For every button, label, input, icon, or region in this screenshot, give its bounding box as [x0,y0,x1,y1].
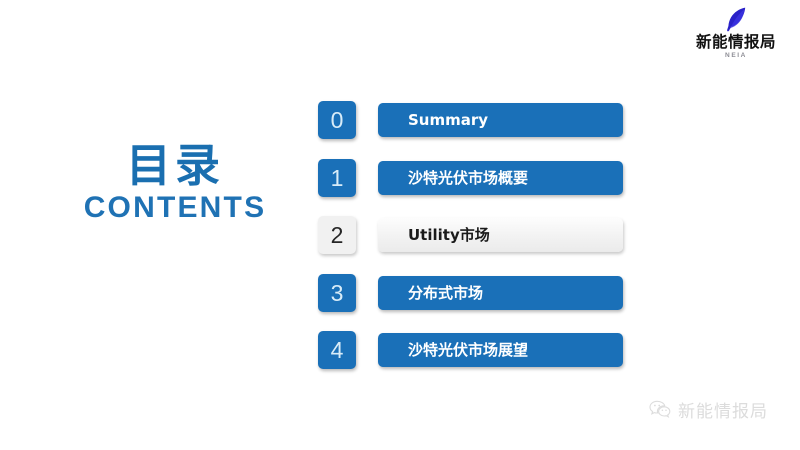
contents-item-label: 分布式市场 [408,276,483,310]
page-title: 目录 CONTENTS [60,142,290,224]
contents-item-label: Summary [408,103,488,137]
wechat-icon [649,400,671,419]
contents-item-number: 3 [318,274,356,312]
contents-item-number: 1 [318,159,356,197]
brand-name-cn: 新能情报局 [684,35,788,51]
contents-item-label: 沙特光伏市场概要 [408,161,528,195]
contents-item-bar[interactable]: 沙特光伏市场概要 [378,161,623,195]
contents-item-number: 2 [318,216,356,254]
contents-item-1[interactable]: 1 沙特光伏市场概要 [318,159,628,197]
contents-item-bar[interactable]: Summary [378,103,623,137]
contents-item-4[interactable]: 4 沙特光伏市场展望 [318,331,628,369]
contents-item-bar[interactable]: 分布式市场 [378,276,623,310]
brand-name-en: NEIA [684,53,788,60]
contents-item-number: 0 [318,101,356,139]
watermark: 新能情报局 [649,397,768,422]
contents-list: 0 Summary 1 沙特光伏市场概要 2 Utility市场 3 分布式市场… [318,101,628,369]
contents-item-bar[interactable]: 沙特光伏市场展望 [378,333,623,367]
contents-item-number: 4 [318,331,356,369]
contents-item-label: Utility市场 [408,218,490,252]
contents-item-3[interactable]: 3 分布式市场 [318,274,628,312]
contents-item-label: 沙特光伏市场展望 [408,333,528,367]
page-title-en: CONTENTS [60,191,290,224]
contents-item-bar[interactable]: Utility市场 [378,218,623,252]
watermark-text: 新能情报局 [678,397,768,422]
feather-quill-icon [684,6,788,34]
contents-slide: 新能情报局 NEIA 目录 CONTENTS 0 Summary 1 沙特光伏市… [0,0,800,450]
contents-item-0[interactable]: 0 Summary [318,101,628,139]
brand-logo: 新能情报局 NEIA [684,6,788,59]
contents-item-2[interactable]: 2 Utility市场 [318,216,628,254]
page-title-cn: 目录 [60,142,290,189]
